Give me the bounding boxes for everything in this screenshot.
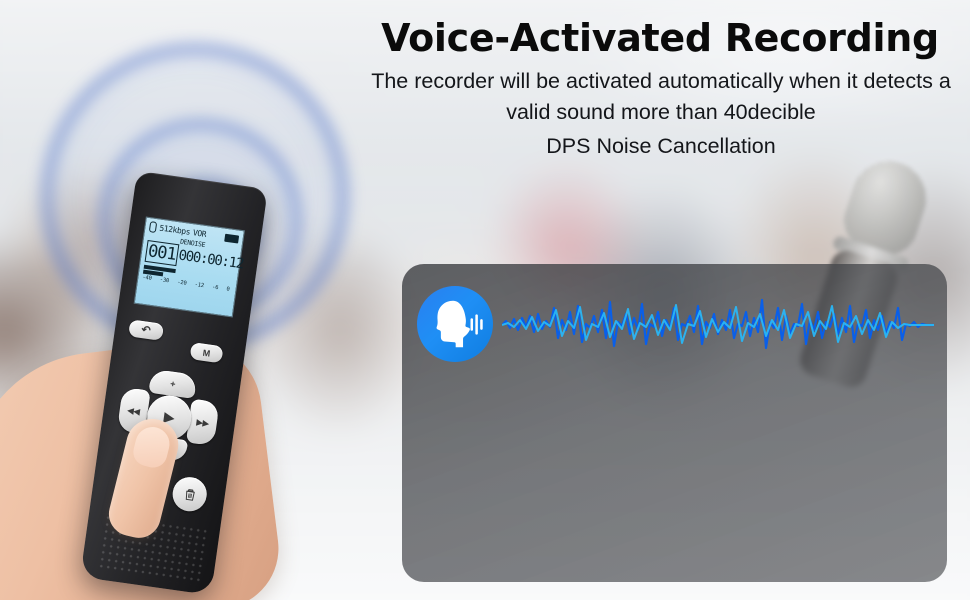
mode-button[interactable]: M xyxy=(190,342,224,363)
subtitle-line-1: The recorder will be activated automatic… xyxy=(371,69,857,93)
meter-tick-5: 0 xyxy=(226,286,230,292)
lcd-mode: VOR xyxy=(192,228,206,239)
page-title: Voice-Activated Recording xyxy=(360,18,960,59)
back-button[interactable]: ↶ xyxy=(128,319,164,341)
waveform-panel: 0 5s 10s 15s 20s 0 5s xyxy=(402,264,947,582)
trash-icon-glyph xyxy=(181,486,198,503)
lcd-timecode: 000:00:12 xyxy=(177,247,244,272)
speaking-head-glyph xyxy=(424,293,486,355)
thumbnail xyxy=(130,423,173,470)
live-waveform xyxy=(502,294,934,356)
meter-tick-4: -6 xyxy=(212,284,219,291)
lcd-screen: 512kbps VOR DENOISE 001 000:00:12 -40 -3… xyxy=(134,216,245,317)
meter-tick-1: -30 xyxy=(159,277,169,284)
meter-tick-2: -20 xyxy=(177,279,187,286)
promo-image-root: Voice-Activated Recording The recorder w… xyxy=(0,0,970,600)
speaking-head-icon xyxy=(417,286,493,362)
level-meter-scale: -40 -30 -20 -12 -6 0 xyxy=(142,275,232,293)
meter-tick-0: -40 xyxy=(142,275,152,282)
microphone-status-icon xyxy=(149,221,157,233)
lcd-file-number: 001 xyxy=(145,240,179,266)
subtitle-line-3: DPS Noise Cancellation xyxy=(362,131,960,162)
next-track-button[interactable]: ▶▶ xyxy=(186,399,220,446)
live-waveform-path xyxy=(502,294,934,356)
delete-trash-icon[interactable] xyxy=(170,475,208,513)
battery-icon xyxy=(224,233,239,243)
meter-tick-3: -12 xyxy=(194,282,204,289)
volume-up-button[interactable]: + xyxy=(148,369,197,399)
page-subtitle: The recorder will be activated automatic… xyxy=(362,66,960,162)
